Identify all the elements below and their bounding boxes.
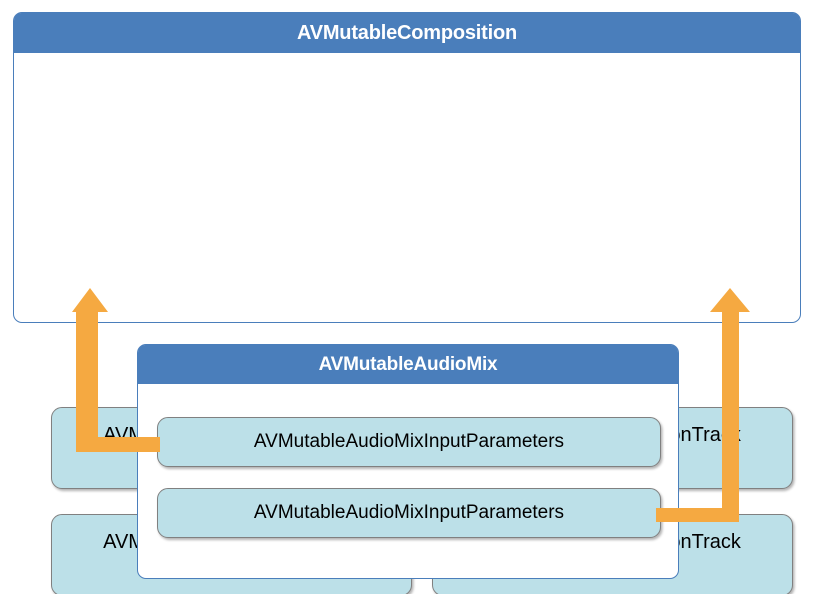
avmutablecomposition-panel: AVMutableComposition AVMutableCompositio…: [13, 12, 801, 323]
avmutableaudiomix-header: AVMutableAudioMix: [138, 345, 678, 384]
audiomix-input-parameters-2-label: AVMutableAudioMixInputParameters: [254, 502, 564, 524]
audiomix-input-parameters-1-label: AVMutableAudioMixInputParameters: [254, 431, 564, 453]
audiomix-input-parameters-2[interactable]: AVMutableAudioMixInputParameters: [157, 488, 661, 538]
audiomix-input-parameters-1[interactable]: AVMutableAudioMixInputParameters: [157, 417, 661, 467]
avmutablecomposition-header: AVMutableComposition: [14, 13, 800, 53]
diagram-canvas: AVMutableComposition AVMutableCompositio…: [0, 0, 816, 594]
